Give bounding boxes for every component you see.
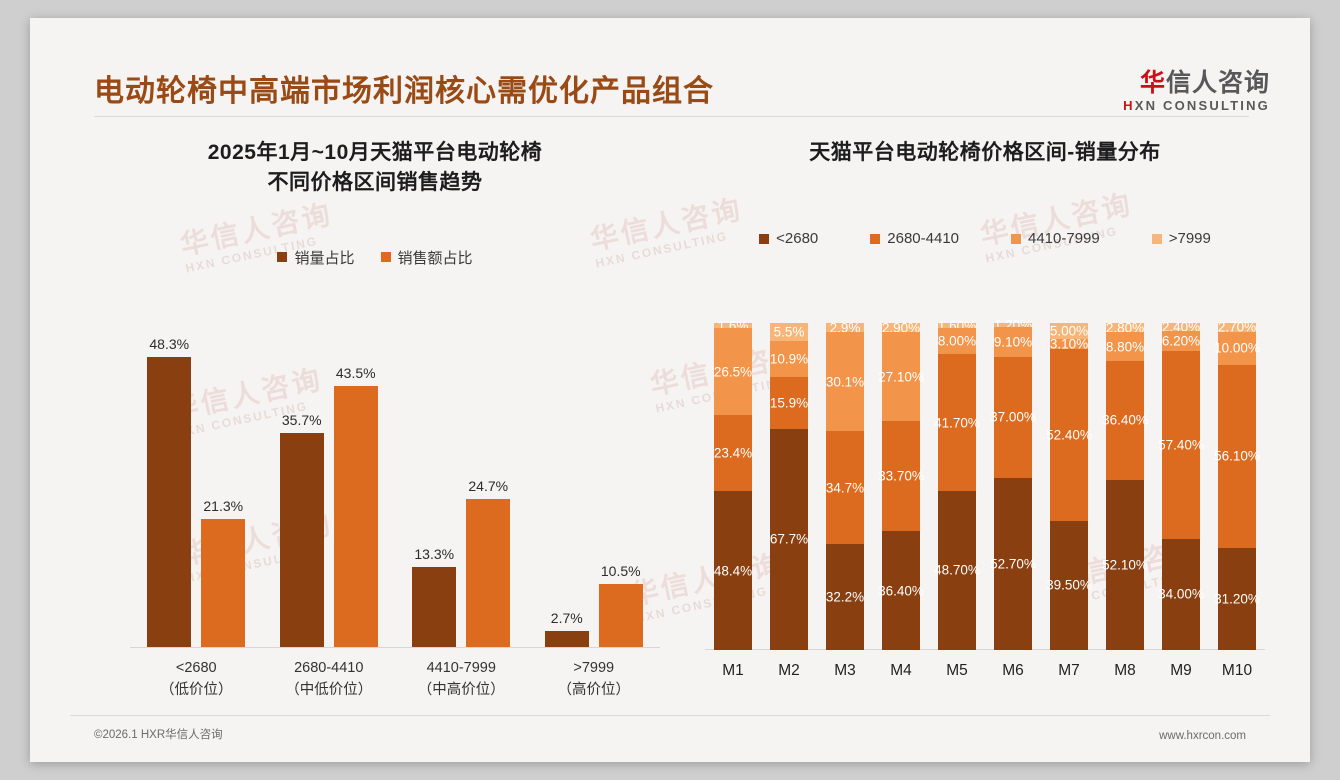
stack-segment-<2680[interactable]: 48.4%	[714, 491, 752, 649]
bar-销量占比->7999[interactable]	[545, 631, 589, 647]
stack-segment-<2680[interactable]: 52.70%	[994, 478, 1032, 650]
stack-segment-2680-4410[interactable]: 36.40%	[1106, 361, 1144, 480]
stack-segment-label: 39.50%	[1046, 578, 1092, 593]
x-axis-label-M2: M2	[778, 662, 800, 680]
bar-销售额占比-4410-7999[interactable]	[466, 499, 510, 647]
right-chart-legend: <26802680-44104410-7999>7999	[685, 230, 1285, 247]
stack-segment-label: 31.20%	[1214, 591, 1260, 606]
stack-segment-<2680[interactable]: 67.7%	[770, 429, 808, 650]
x-axis-label->7999: >7999（高价位）	[528, 658, 661, 702]
stack-segment-2680-4410[interactable]: 57.40%	[1162, 351, 1200, 539]
stacked-bar-M3[interactable]: 2.9%30.1%34.7%32.2%M3	[826, 323, 864, 650]
stack-segment-2680-4410[interactable]: 34.7%	[826, 431, 864, 544]
left-chart-title-line1: 2025年1月~10月天猫平台电动轮椅	[70, 138, 680, 168]
stack-segment-4410-7999[interactable]: 3.10%	[1050, 339, 1088, 349]
x-axis-label-range: 2680-4410	[263, 658, 396, 680]
x-axis-label-tier: （低价位）	[130, 680, 263, 702]
stacked-bar-M6[interactable]: 1.20%9.10%37.00%52.70%M6	[994, 323, 1032, 650]
legend-item-label: 销售额占比	[398, 247, 473, 268]
stack-segment-4410-7999[interactable]: 30.1%	[826, 332, 864, 430]
stack-segment-4410-7999[interactable]: 26.5%	[714, 328, 752, 415]
bar-column[interactable]: 2.7%	[545, 631, 589, 647]
bar-value-label: 43.5%	[336, 365, 376, 381]
legend-item-<2680[interactable]: <2680	[759, 230, 818, 247]
left-chart-legend: 销量占比销售额占比	[70, 247, 680, 268]
stacked-bar-M8[interactable]: 2.80%8.80%36.40%52.10%M8	[1106, 323, 1144, 650]
stack-segment->7999[interactable]: 2.90%	[882, 323, 920, 332]
bar-销量占比-4410-7999[interactable]	[412, 567, 456, 647]
page-title: 电动轮椅中高端市场利润核心需优化产品组合	[94, 66, 714, 110]
left-chart-panel: 2025年1月~10月天猫平台电动轮椅 不同价格区间销售趋势 销量占比销售额占比…	[70, 138, 680, 698]
stack-segment-<2680[interactable]: 31.20%	[1218, 548, 1256, 650]
x-axis-label-M4: M4	[890, 662, 912, 680]
brand-logo: 华信人咨询 HXN CONSULTING	[1123, 70, 1270, 113]
stack-segment-2680-4410[interactable]: 41.70%	[938, 354, 976, 490]
stack-segment-4410-7999[interactable]: 6.20%	[1162, 331, 1200, 351]
x-axis-label-tier: （中低价位）	[263, 680, 396, 702]
stack-segment-2680-4410[interactable]: 23.4%	[714, 415, 752, 492]
stack-segment-label: 41.70%	[934, 415, 980, 430]
stack-segment-label: 8.80%	[1106, 339, 1144, 354]
stack-segment-label: 52.40%	[1046, 428, 1092, 443]
legend-item-label: <2680	[776, 230, 818, 247]
stack-segment-4410-7999[interactable]: 8.00%	[938, 328, 976, 354]
legend-item-label: 销量占比	[294, 247, 354, 268]
logo-en-red: H	[1123, 98, 1135, 113]
stack-segment-label: 36.40%	[878, 583, 924, 598]
stack-segment-4410-7999[interactable]: 10.9%	[770, 341, 808, 377]
bar-group: 48.3%21.3%<2680（低价位）	[130, 317, 263, 647]
bar-销量占比-<2680[interactable]	[147, 357, 191, 647]
logo-english: HXN CONSULTING	[1123, 98, 1270, 113]
stack-segment-label: 10.9%	[770, 351, 808, 366]
stack-segment-4410-7999[interactable]: 8.80%	[1106, 332, 1144, 361]
bar-column[interactable]: 21.3%	[201, 519, 245, 647]
bar-value-label: 21.3%	[203, 498, 243, 514]
stack-segment-label: 27.10%	[878, 369, 924, 384]
logo-chinese: 华信人咨询	[1123, 70, 1270, 96]
x-axis-label-tier: （高价位）	[528, 680, 661, 702]
footer-website: www.hxrcon.com	[1159, 730, 1246, 742]
stack-segment-label: 34.00%	[1158, 587, 1204, 602]
stack-segment-4410-7999[interactable]: 10.00%	[1218, 332, 1256, 365]
bar-column[interactable]: 43.5%	[334, 386, 378, 647]
x-axis-label-M8: M8	[1114, 662, 1136, 680]
right-chart-panel: 天猫平台电动轮椅价格区间-销量分布 <26802680-44104410-799…	[685, 138, 1285, 698]
stack-segment-2680-4410[interactable]: 52.40%	[1050, 349, 1088, 520]
legend-item->7999[interactable]: >7999	[1152, 230, 1211, 247]
stack-segment-label: 56.10%	[1214, 449, 1260, 464]
bar-column[interactable]: 35.7%	[280, 433, 324, 647]
stack-segment->7999[interactable]: 2.40%	[1162, 323, 1200, 331]
stacked-bar-M5[interactable]: 1.60%8.00%41.70%48.70%M5	[938, 323, 976, 650]
stacked-bar-M2[interactable]: 5.5%10.9%15.9%67.7%M2	[770, 323, 808, 650]
legend-item-label: >7999	[1169, 230, 1211, 247]
stack-segment-4410-7999[interactable]: 27.10%	[882, 332, 920, 421]
x-axis-label-M3: M3	[834, 662, 856, 680]
bar-group: 35.7%43.5%2680-4410（中低价位）	[263, 317, 396, 647]
bar-value-label: 13.3%	[414, 546, 454, 562]
bar-value-label: 2.7%	[551, 610, 583, 626]
stack-segment-4410-7999[interactable]: 9.10%	[994, 327, 1032, 357]
x-axis-label-M6: M6	[1002, 662, 1024, 680]
stack-segment-<2680[interactable]: 32.2%	[826, 544, 864, 649]
legend-item-label: 4410-7999	[1028, 230, 1100, 247]
bar-销售额占比-2680-4410[interactable]	[334, 386, 378, 647]
legend-item-label: 2680-4410	[887, 230, 959, 247]
x-axis-label-range: 4410-7999	[395, 658, 528, 680]
legend-swatch-icon	[1011, 234, 1021, 244]
stack-segment-label: 57.40%	[1158, 437, 1204, 452]
stack-segment->7999[interactable]: 5.5%	[770, 323, 808, 341]
legend-item-4410-7999[interactable]: 4410-7999	[1011, 230, 1100, 247]
stack-segment-2680-4410[interactable]: 56.10%	[1218, 365, 1256, 548]
stack-segment-label: 9.10%	[994, 334, 1032, 349]
bar-column[interactable]: 10.5%	[599, 584, 643, 647]
stack-segment-label: 36.40%	[1102, 413, 1148, 428]
x-axis-label-M1: M1	[722, 662, 744, 680]
bar-value-label: 48.3%	[149, 336, 189, 352]
stack-segment-label: 5.5%	[774, 324, 805, 339]
header-divider	[94, 116, 1249, 117]
x-axis-label-range: >7999	[528, 658, 661, 680]
stack-segment-2680-4410[interactable]: 37.00%	[994, 357, 1032, 478]
x-axis-label-M7: M7	[1058, 662, 1080, 680]
stack-segment-label: 6.20%	[1162, 333, 1200, 348]
bar-column[interactable]: 24.7%	[466, 499, 510, 647]
stack-segment-2680-4410[interactable]: 15.9%	[770, 377, 808, 429]
x-axis-label-M9: M9	[1170, 662, 1192, 680]
slide-canvas: 华信人咨询HXN CONSULTING 华信人咨询HXN CONSULTING …	[30, 18, 1310, 762]
stack-segment-label: 34.7%	[826, 480, 864, 495]
stack-segment-<2680[interactable]: 48.70%	[938, 491, 976, 650]
bar-column[interactable]: 13.3%	[412, 567, 456, 647]
footer-divider	[70, 715, 1270, 716]
x-axis-label-M10: M10	[1222, 662, 1252, 680]
stack-segment-<2680[interactable]: 52.10%	[1106, 480, 1144, 650]
stack-segment-label: 33.70%	[878, 469, 924, 484]
stacked-bar-M1[interactable]: 1.6%26.5%23.4%48.4%M1	[714, 323, 752, 650]
legend-swatch-icon	[1152, 234, 1162, 244]
bar-value-label: 10.5%	[601, 563, 641, 579]
left-grouped-bar-chart: 48.3%21.3%<2680（低价位）35.7%43.5%2680-4410（…	[130, 318, 660, 648]
logo-cn-red: 华	[1140, 69, 1166, 97]
right-chart-title: 天猫平台电动轮椅价格区间-销量分布	[685, 138, 1285, 168]
stack-segment-label: 48.4%	[714, 563, 752, 578]
stack-segment-label: 52.10%	[1102, 558, 1148, 573]
bar-销售额占比-<2680[interactable]	[201, 519, 245, 647]
legend-swatch-icon	[277, 252, 287, 262]
stack-segment-<2680[interactable]: 34.00%	[1162, 539, 1200, 650]
stack-segment-label: 8.00%	[938, 334, 976, 349]
x-axis-label-<2680: <2680（低价位）	[130, 658, 263, 702]
bar-group: 13.3%24.7%4410-7999（中高价位）	[395, 317, 528, 647]
stack-segment-label: 32.2%	[826, 590, 864, 605]
legend-item-销售额占比[interactable]: 销售额占比	[381, 247, 473, 268]
x-axis-label-2680-4410: 2680-4410（中低价位）	[263, 658, 396, 702]
x-axis-label-4410-7999: 4410-7999（中高价位）	[395, 658, 528, 702]
stacked-bar-M7[interactable]: 5.00%3.10%52.40%39.50%M7	[1050, 323, 1088, 650]
left-chart-title-line2: 不同价格区间销售趋势	[70, 168, 680, 198]
stacked-bar-M9[interactable]: 2.40%6.20%57.40%34.00%M9	[1162, 323, 1200, 650]
stack-segment-label: 37.00%	[990, 410, 1036, 425]
legend-swatch-icon	[381, 252, 391, 262]
stack-segment-label: 52.70%	[990, 556, 1036, 571]
legend-swatch-icon	[759, 234, 769, 244]
stack-segment-label: 23.4%	[714, 446, 752, 461]
stacked-bar-M10[interactable]: 2.70%10.00%56.10%31.20%M10	[1218, 323, 1256, 650]
bar-value-label: 24.7%	[468, 478, 508, 494]
stack-segment-label: 30.1%	[826, 374, 864, 389]
bar-销量占比-2680-4410[interactable]	[280, 433, 324, 647]
stack-segment-label: 67.7%	[770, 532, 808, 547]
stack-segment-label: 15.9%	[770, 395, 808, 410]
x-axis-label-range: <2680	[130, 658, 263, 680]
right-stacked-bar-chart: 1.6%26.5%23.4%48.4%M15.5%10.9%15.9%67.7%…	[705, 323, 1265, 650]
stack-segment-<2680[interactable]: 39.50%	[1050, 521, 1088, 650]
stack-segment->7999[interactable]: 2.70%	[1218, 323, 1256, 332]
left-chart-title: 2025年1月~10月天猫平台电动轮椅 不同价格区间销售趋势	[70, 138, 680, 199]
stack-segment-2680-4410[interactable]: 33.70%	[882, 421, 920, 531]
legend-swatch-icon	[870, 234, 880, 244]
stack-segment-label: 48.70%	[934, 563, 980, 578]
bar-column[interactable]: 48.3%	[147, 357, 191, 647]
left-chart-axis	[130, 647, 660, 648]
slide-header: 电动轮椅中高端市场利润核心需优化产品组合 华信人咨询 HXN CONSULTIN…	[30, 18, 1310, 118]
stack-segment->7999[interactable]: 2.80%	[1106, 323, 1144, 332]
bar-group: 2.7%10.5%>7999（高价位）	[528, 317, 661, 647]
logo-cn-rest: 信人咨询	[1166, 69, 1270, 97]
stack-segment-label: 26.5%	[714, 364, 752, 379]
legend-item-2680-4410[interactable]: 2680-4410	[870, 230, 959, 247]
bar-value-label: 35.7%	[282, 412, 322, 428]
stacked-bar-M4[interactable]: 2.90%27.10%33.70%36.40%M4	[882, 323, 920, 650]
stack-segment-label: 10.00%	[1214, 341, 1260, 356]
legend-item-销量占比[interactable]: 销量占比	[277, 247, 354, 268]
logo-en-rest: XN CONSULTING	[1135, 98, 1270, 113]
x-axis-label-tier: （中高价位）	[395, 680, 528, 702]
bar-销售额占比->7999[interactable]	[599, 584, 643, 647]
x-axis-label-M5: M5	[946, 662, 968, 680]
stack-segment-<2680[interactable]: 36.40%	[882, 531, 920, 650]
stack-segment->7999[interactable]: 2.9%	[826, 323, 864, 332]
footer-copyright: ©2026.1 HXR华信人咨询	[94, 726, 223, 742]
